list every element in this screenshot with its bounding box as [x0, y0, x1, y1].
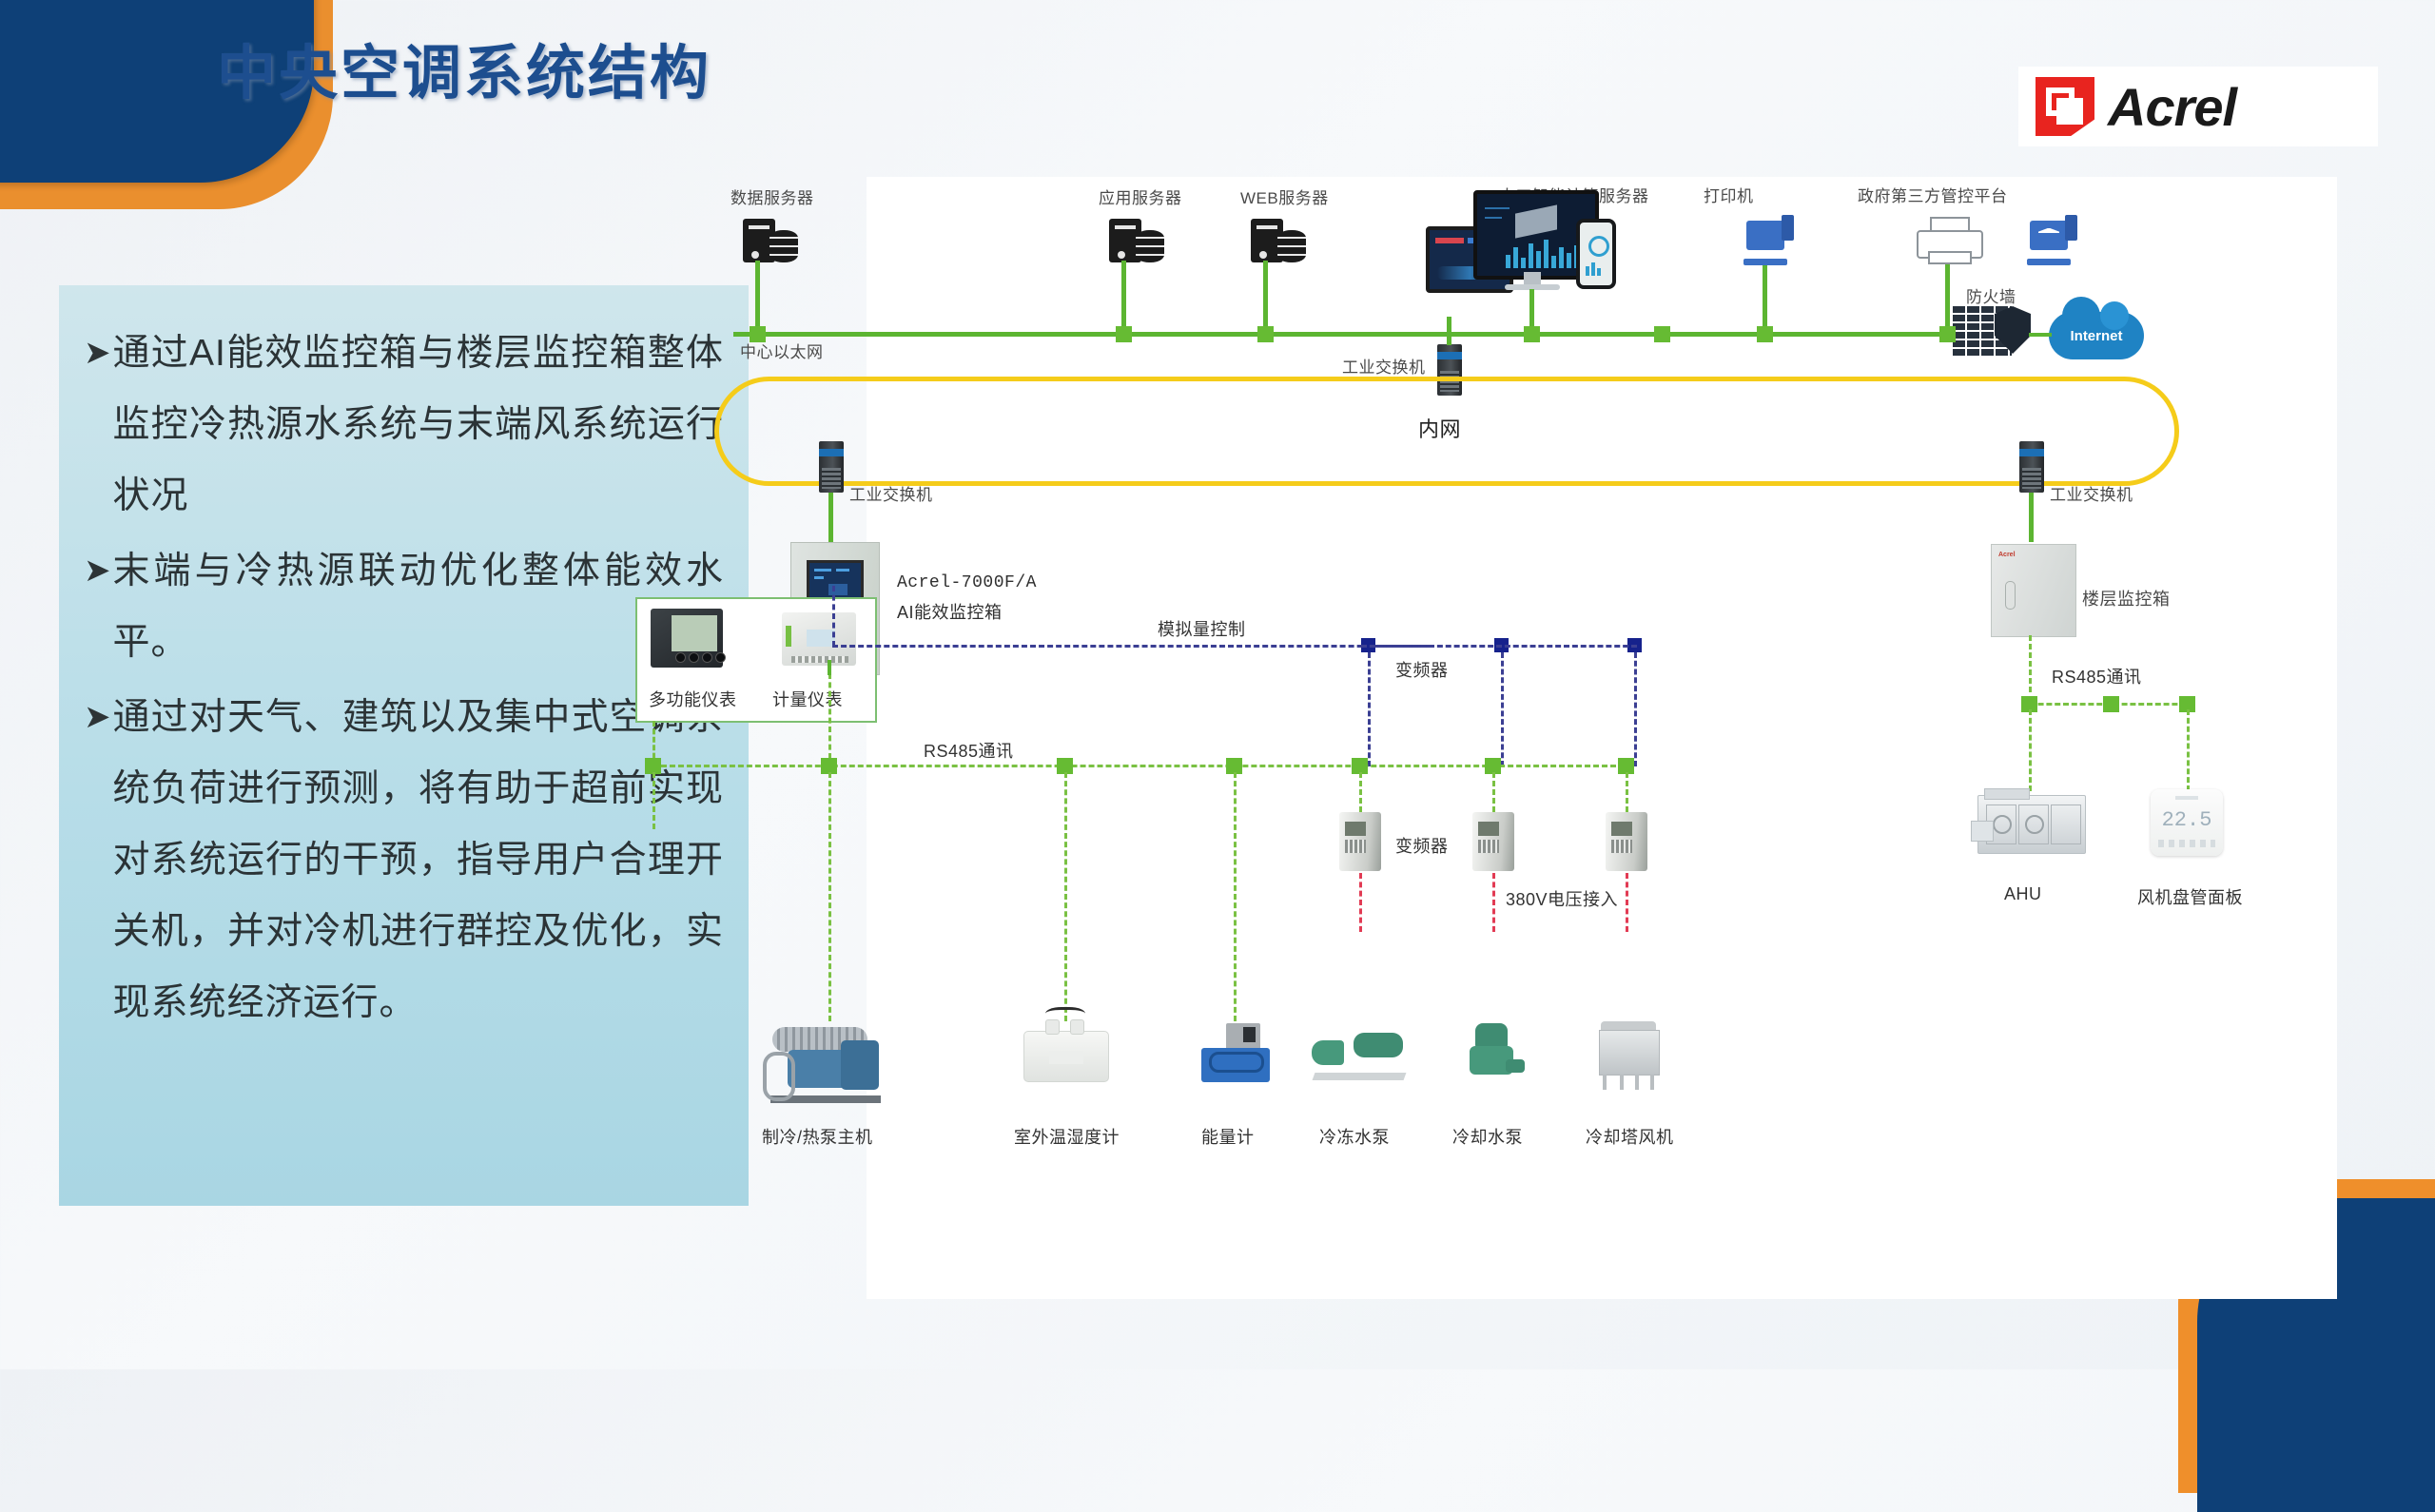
label-government-platform: 政府第三方管控平台	[1858, 183, 2008, 206]
acrel-logo: Acrel	[2018, 67, 2378, 146]
bus-node-data-server	[750, 326, 766, 342]
cabinet-bottom-link	[828, 660, 831, 675]
bus-node-printer	[1939, 326, 1956, 342]
label-data-server-top: 数据服务器	[730, 184, 814, 208]
chilled-water-pump-icon	[1312, 1029, 1407, 1080]
label-380v-supply: 380V电压接入	[1506, 886, 1618, 911]
ai-compute-server-tower	[1782, 215, 1794, 241]
internet-cloud-icon: Internet	[2049, 312, 2144, 359]
label-analog-control: 模拟量控制	[1158, 616, 1246, 641]
monitor-to-switch-link	[1447, 317, 1451, 345]
bullet-text: 通过AI能效监控箱与楼层监控箱整体监控冷热源水系统与末端风系统运行状况	[113, 318, 725, 532]
vfd-cooling-pump-icon	[1472, 812, 1514, 871]
rs485-drop-chiller	[828, 772, 831, 1021]
ahu-icon	[1977, 795, 2086, 854]
drop-application-server	[1121, 261, 1126, 333]
bus-node-ai-server	[1757, 326, 1773, 342]
drop-printer	[1945, 264, 1950, 333]
bus-node-web-server	[1257, 326, 1274, 342]
metering-instrument-icon	[782, 612, 856, 666]
web-server-disk-icon	[1277, 230, 1306, 262]
switch-left-drop	[828, 493, 833, 542]
label-rs485-main: RS485通讯	[924, 738, 1014, 763]
internet-label: Internet	[2070, 328, 2122, 344]
ai-compute-server-base	[1743, 259, 1787, 265]
label-fan-coil-panel: 风机盘管面板	[2137, 884, 2243, 909]
energy-meter-icon	[1201, 1023, 1270, 1082]
rs485-drop-energy	[1234, 772, 1237, 1021]
system-architecture-diagram: 数据服务器 数据服务器 数据服务器 应用服务器 WEB服务器 人工智能计算服务器…	[867, 177, 2337, 1299]
label-industrial-switch-top: 工业交换机	[1342, 354, 1426, 378]
rs485-drop-sensor	[1064, 772, 1067, 1021]
floor-monitoring-cabinet-icon: Acrel	[1991, 544, 2076, 637]
label-application-server: 应用服务器	[1099, 184, 1182, 208]
cooling-water-pump-icon	[1464, 1023, 1521, 1086]
government-computer-icon	[2030, 221, 2068, 250]
multifunction-meter-icon	[651, 609, 723, 668]
rs485-drop-meters	[653, 772, 655, 829]
label-rs485-floor: RS485通讯	[2052, 664, 2142, 688]
label-cooling-tower-fan: 冷却塔风机	[1586, 1124, 1674, 1149]
bullet-marker-icon: ➤	[84, 682, 111, 752]
floor-cabinet-drop	[2029, 635, 2032, 692]
analog-control-bus	[832, 645, 1432, 648]
bus-node-gov-platform	[1654, 326, 1670, 342]
rs485-drop-vfd1	[1359, 772, 1362, 812]
label-web-server: WEB服务器	[1240, 184, 1329, 208]
label-cooling-water-pump: 冷却水泵	[1452, 1124, 1523, 1149]
rs485-floor-drop-panel	[2187, 709, 2190, 791]
label-vfd-analog: 变频器	[1395, 657, 1449, 682]
label-intranet: 内网	[1418, 413, 1461, 443]
smartphone-icon	[1576, 219, 1616, 289]
drop-ai-server	[1763, 265, 1767, 333]
bullet-item: ➤ 末端与冷热源联动优化整体能效水平。	[84, 535, 724, 678]
label-ai-energy-cabinet: AI能效监控箱	[897, 599, 1003, 624]
power-drop-cooling-tower	[1626, 873, 1628, 932]
drop-data-server	[755, 261, 760, 333]
label-chilled-water-pump: 冷冻水泵	[1319, 1124, 1390, 1149]
vfd-cooling-tower-icon	[1606, 812, 1647, 871]
monitor-stand	[1524, 272, 1541, 285]
drop-web-server	[1263, 261, 1268, 333]
bullet-text: 通过对天气、建筑以及集中式空调系统负荷进行预测，将有助于超前实现对系统运行的干预…	[113, 682, 725, 1038]
label-printer: 打印机	[1704, 183, 1754, 206]
chiller-heat-pump-icon	[767, 1023, 888, 1103]
switch-right-drop	[2029, 493, 2034, 542]
label-industrial-switch-right: 工业交换机	[2050, 481, 2133, 505]
meter-group-box: 多功能仪表 计量仪表	[635, 597, 877, 723]
bullet-text: 末端与冷热源联动优化整体能效水平。	[113, 535, 725, 678]
label-chiller-heat-pump: 制冷/热泵主机	[762, 1124, 873, 1149]
label-industrial-switch-left: 工业交换机	[849, 481, 933, 505]
summary-text-panel: ➤ 通过AI能效监控箱与楼层监控箱整体监控冷热源水系统与末端风系统运行状况 ➤ …	[59, 285, 749, 1206]
cabinet-to-rs485	[828, 673, 831, 759]
rs485-floor-node-2	[2103, 696, 2119, 712]
fan-coil-panel-value: 22.5	[2151, 808, 2223, 832]
application-server-disk-icon	[1136, 230, 1164, 262]
acrel-logo-icon	[2036, 77, 2094, 136]
analog-control-bus-2	[1361, 645, 1637, 648]
analog-drop-1	[1368, 652, 1371, 766]
label-metering-instrument: 计量仪表	[772, 687, 843, 711]
cabinet-brand-mark: Acrel	[1998, 552, 2016, 558]
vfd-chilled-pump-icon	[1339, 812, 1381, 871]
fan-coil-panel-icon: 22.5	[2151, 789, 2223, 856]
bullet-marker-icon: ➤	[84, 535, 111, 606]
label-vfd-device: 变频器	[1395, 833, 1449, 858]
cooling-tower-fan-icon	[1597, 1021, 1660, 1090]
label-outdoor-sensor: 室外温湿度计	[1014, 1124, 1120, 1149]
page-title: 中央空调系统结构	[217, 25, 711, 110]
bullet-marker-icon: ➤	[84, 318, 111, 388]
power-drop-chilled-pump	[1359, 873, 1362, 932]
cabinet-handle	[2005, 581, 2016, 610]
outdoor-temp-humidity-sensor-icon	[1023, 1031, 1109, 1082]
rs485-drop-vfd3	[1626, 772, 1628, 812]
firewall-internet-link	[2029, 333, 2052, 337]
bus-node-application-server	[1116, 326, 1132, 342]
analog-drop-2	[1501, 652, 1504, 766]
acrel-logo-text: Acrel	[2108, 76, 2236, 138]
label-energy-meter: 能量计	[1201, 1124, 1255, 1149]
label-acrel-7000fa: Acrel-7000F/A	[897, 573, 1037, 592]
bus-node-monitor	[1524, 326, 1540, 342]
industrial-switch-right-icon	[2019, 441, 2044, 493]
government-computer-base	[2027, 259, 2071, 265]
label-firewall: 防火墙	[1966, 283, 2016, 307]
analog-drop-3	[1634, 652, 1637, 766]
label-ahu: AHU	[2004, 884, 2042, 904]
analog-control-riser	[832, 586, 835, 647]
government-computer-tower	[2065, 215, 2077, 241]
printer-icon	[1917, 217, 1979, 264]
rs485-bus	[653, 765, 1625, 767]
power-drop-cooling-pump	[1492, 873, 1495, 932]
data-server-disk-icon	[769, 230, 798, 262]
ai-compute-server-icon	[1746, 221, 1784, 250]
rs485-drop-vfd2	[1492, 772, 1495, 812]
industrial-switch-left-icon	[819, 441, 844, 493]
rs485-floor-drop-ahu	[2029, 709, 2032, 791]
label-multifunction-meter: 多功能仪表	[649, 687, 737, 711]
bullet-item: ➤ 通过AI能效监控箱与楼层监控箱整体监控冷热源水系统与末端风系统运行状况	[84, 318, 724, 532]
label-floor-monitoring-cabinet: 楼层监控箱	[2082, 586, 2171, 611]
bullet-item: ➤ 通过对天气、建筑以及集中式空调系统负荷进行预测，将有助于超前实现对系统运行的…	[84, 682, 724, 1038]
